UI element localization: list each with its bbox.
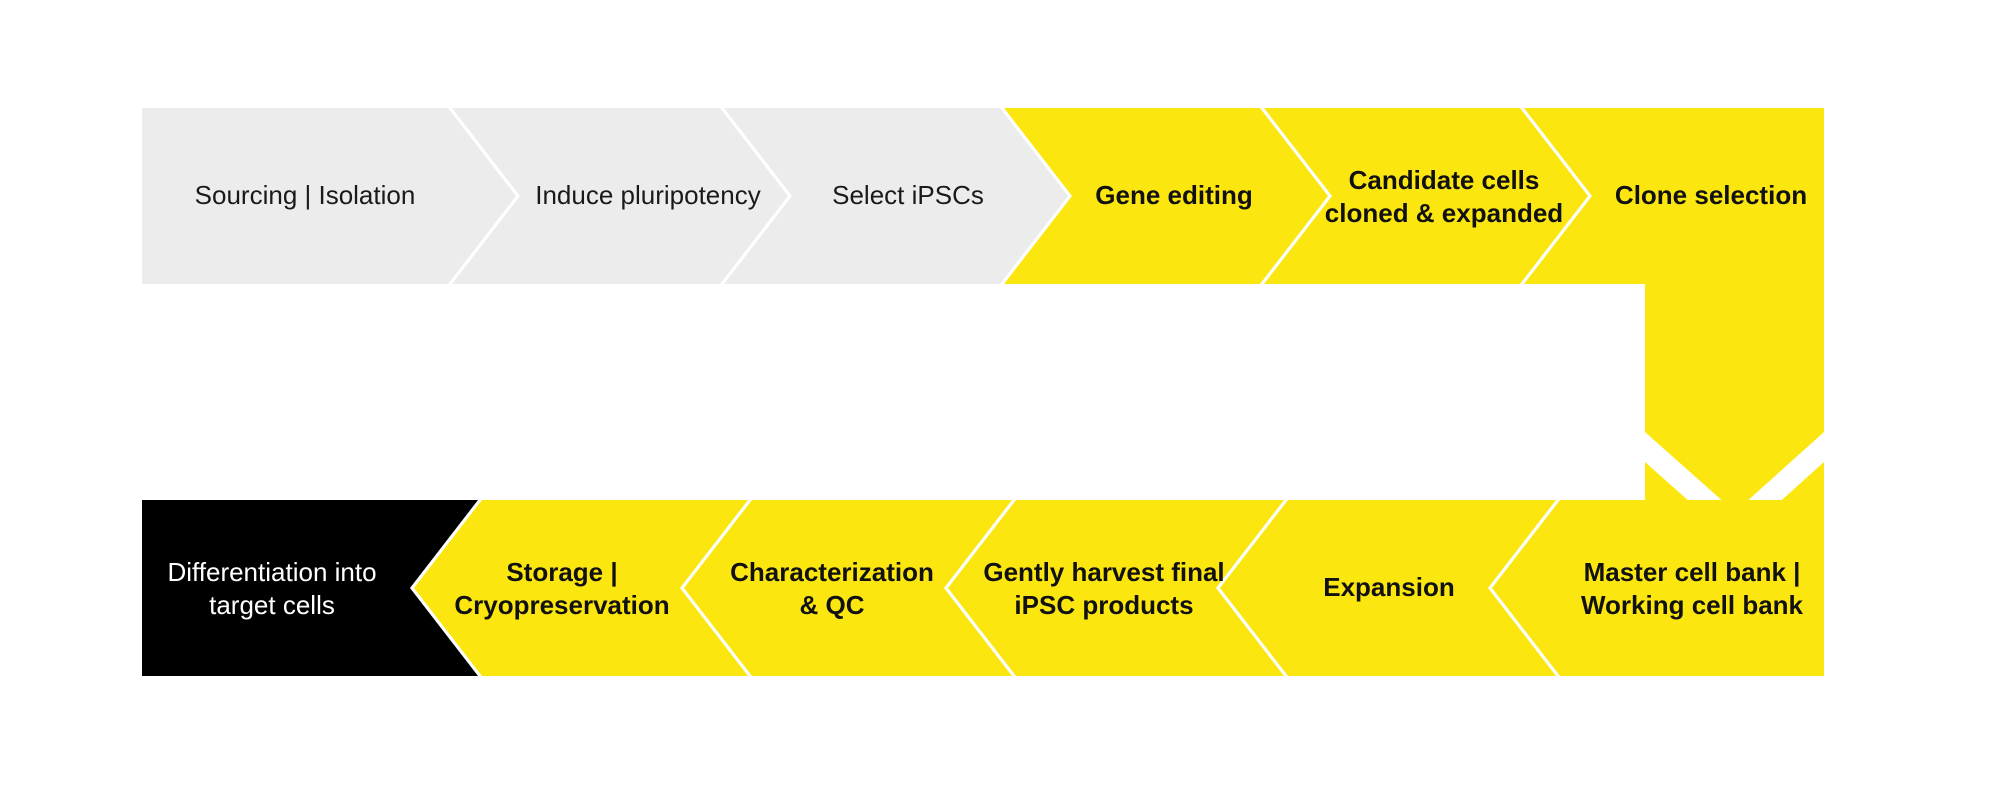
step-label-line2: & QC (800, 590, 865, 620)
step-label-line2: target cells (209, 590, 335, 620)
flow-canvas: Sourcing | Isolation Induce pluripotency… (0, 0, 2000, 785)
step-label: Select iPSCs (832, 180, 984, 210)
step-label-line1: Differentiation into (167, 557, 376, 587)
step-label: Induce pluripotency (535, 180, 760, 210)
step-label-line2: Working cell bank (1581, 590, 1804, 620)
step-label: Gene editing (1095, 180, 1252, 210)
step-sourcing-isolation[interactable]: Sourcing | Isolation (142, 108, 516, 284)
step-label-line2: Cryopreservation (454, 590, 669, 620)
step-label-line1: Master cell bank | (1584, 557, 1801, 587)
step-label-line1: Characterization (730, 557, 934, 587)
step-label-line2: iPSC products (1014, 590, 1193, 620)
step-label-line1: Gently harvest final (983, 557, 1224, 587)
top-row-group: Sourcing | Isolation Induce pluripotency… (142, 108, 1824, 284)
step-label: Expansion (1323, 572, 1454, 602)
step-label-line1: Candidate cells (1349, 165, 1540, 195)
step-label-line2: cloned & expanded (1325, 198, 1563, 228)
process-flow-diagram: Sourcing | Isolation Induce pluripotency… (0, 0, 2000, 785)
step-master-working-cell-bank[interactable]: Master cell bank | Working cell bank (1492, 500, 1824, 676)
step-label-line1: Storage | (506, 557, 617, 587)
step-label: Sourcing | Isolation (195, 180, 416, 210)
bottom-row-group: Master cell bank | Working cell bank Exp… (142, 500, 1824, 676)
step-shape (1492, 500, 1824, 676)
step-label: Clone selection (1615, 180, 1807, 210)
